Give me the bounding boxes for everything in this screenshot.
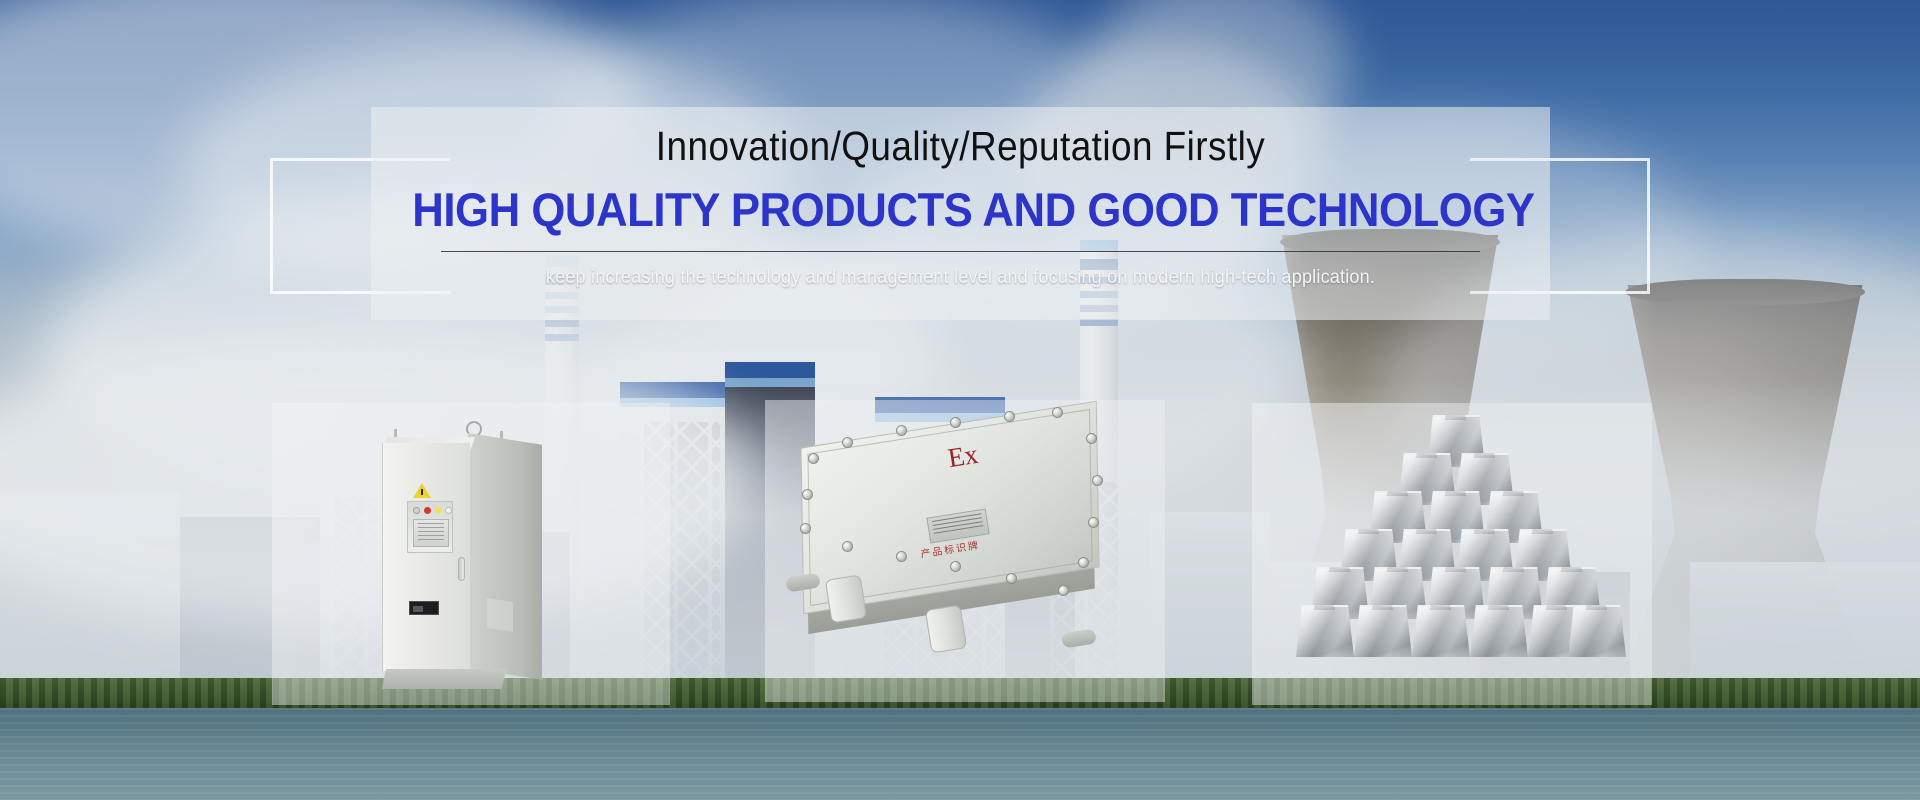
indicator-lamp-red [424, 507, 431, 514]
ingot-stack-image [1306, 415, 1606, 695]
instrument-window [407, 501, 453, 553]
cable-gland [825, 574, 867, 623]
warning-triangle-icon [413, 483, 431, 498]
subtitle: keep increasing the technology and manag… [400, 267, 1520, 289]
door-handle [458, 557, 465, 581]
junction-box-image: Ex 产品标识牌 [800, 425, 1130, 680]
water-body [0, 708, 1920, 800]
page-title: HIGH QUALITY PRODUCTS AND GOOD TECHNOLOG… [412, 182, 1508, 237]
hero-banner: Innovation/Quality/Reputation Firstly HI… [0, 0, 1920, 800]
digital-display [409, 601, 439, 615]
headline-panel: Innovation/Quality/Reputation Firstly HI… [371, 107, 1550, 320]
control-cabinet-image [382, 415, 542, 695]
cable-gland [925, 604, 967, 653]
tagline: Innovation/Quality/Reputation Firstly [430, 123, 1491, 170]
ex-badge: Ex [946, 439, 980, 474]
title-divider [441, 251, 1480, 252]
indicator-lamp-yellow [435, 507, 442, 514]
